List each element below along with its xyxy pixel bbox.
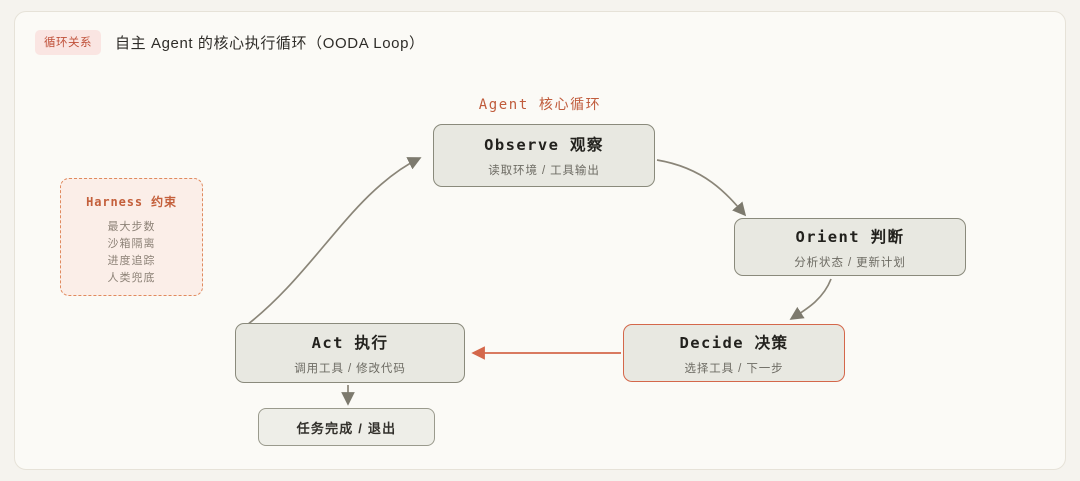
node-decide[interactable]: Decide 决策 选择工具 / 下一步 (623, 324, 845, 382)
diagram-card: 循环关系 自主 Agent 的核心执行循环（OODA Loop） Agent 核… (14, 11, 1066, 470)
connector-observe-to-orient (657, 160, 745, 215)
harness-item: 沙箱隔离 (108, 236, 156, 253)
connector-orient-to-decide (791, 279, 831, 319)
node-orient-subtitle: 分析状态 / 更新计划 (794, 254, 905, 270)
node-exit-title: 任务完成 / 退出 (297, 418, 397, 437)
node-act-title: Act 执行 (312, 331, 389, 353)
node-decide-title: Decide 决策 (680, 331, 789, 353)
node-observe-title: Observe 观察 (484, 133, 604, 155)
node-act[interactable]: Act 执行 调用工具 / 修改代码 (235, 323, 465, 383)
node-observe-subtitle: 读取环境 / 工具输出 (488, 162, 599, 178)
node-exit[interactable]: 任务完成 / 退出 (258, 408, 435, 446)
harness-item: 人类兜底 (108, 270, 156, 287)
node-decide-subtitle: 选择工具 / 下一步 (684, 360, 783, 376)
harness-item: 进度追踪 (108, 253, 156, 270)
node-orient[interactable]: Orient 判断 分析状态 / 更新计划 (734, 218, 966, 276)
harness-panel: Harness 约束 最大步数 沙箱隔离 进度追踪 人类兜底 (60, 178, 203, 296)
node-observe[interactable]: Observe 观察 读取环境 / 工具输出 (433, 124, 655, 187)
harness-item: 最大步数 (108, 219, 156, 236)
harness-list: 最大步数 沙箱隔离 进度追踪 人类兜底 (108, 219, 156, 287)
node-act-subtitle: 调用工具 / 修改代码 (294, 360, 405, 376)
harness-title: Harness 约束 (86, 193, 177, 210)
connector-act-to-observe (243, 158, 420, 328)
node-orient-title: Orient 判断 (796, 225, 905, 247)
